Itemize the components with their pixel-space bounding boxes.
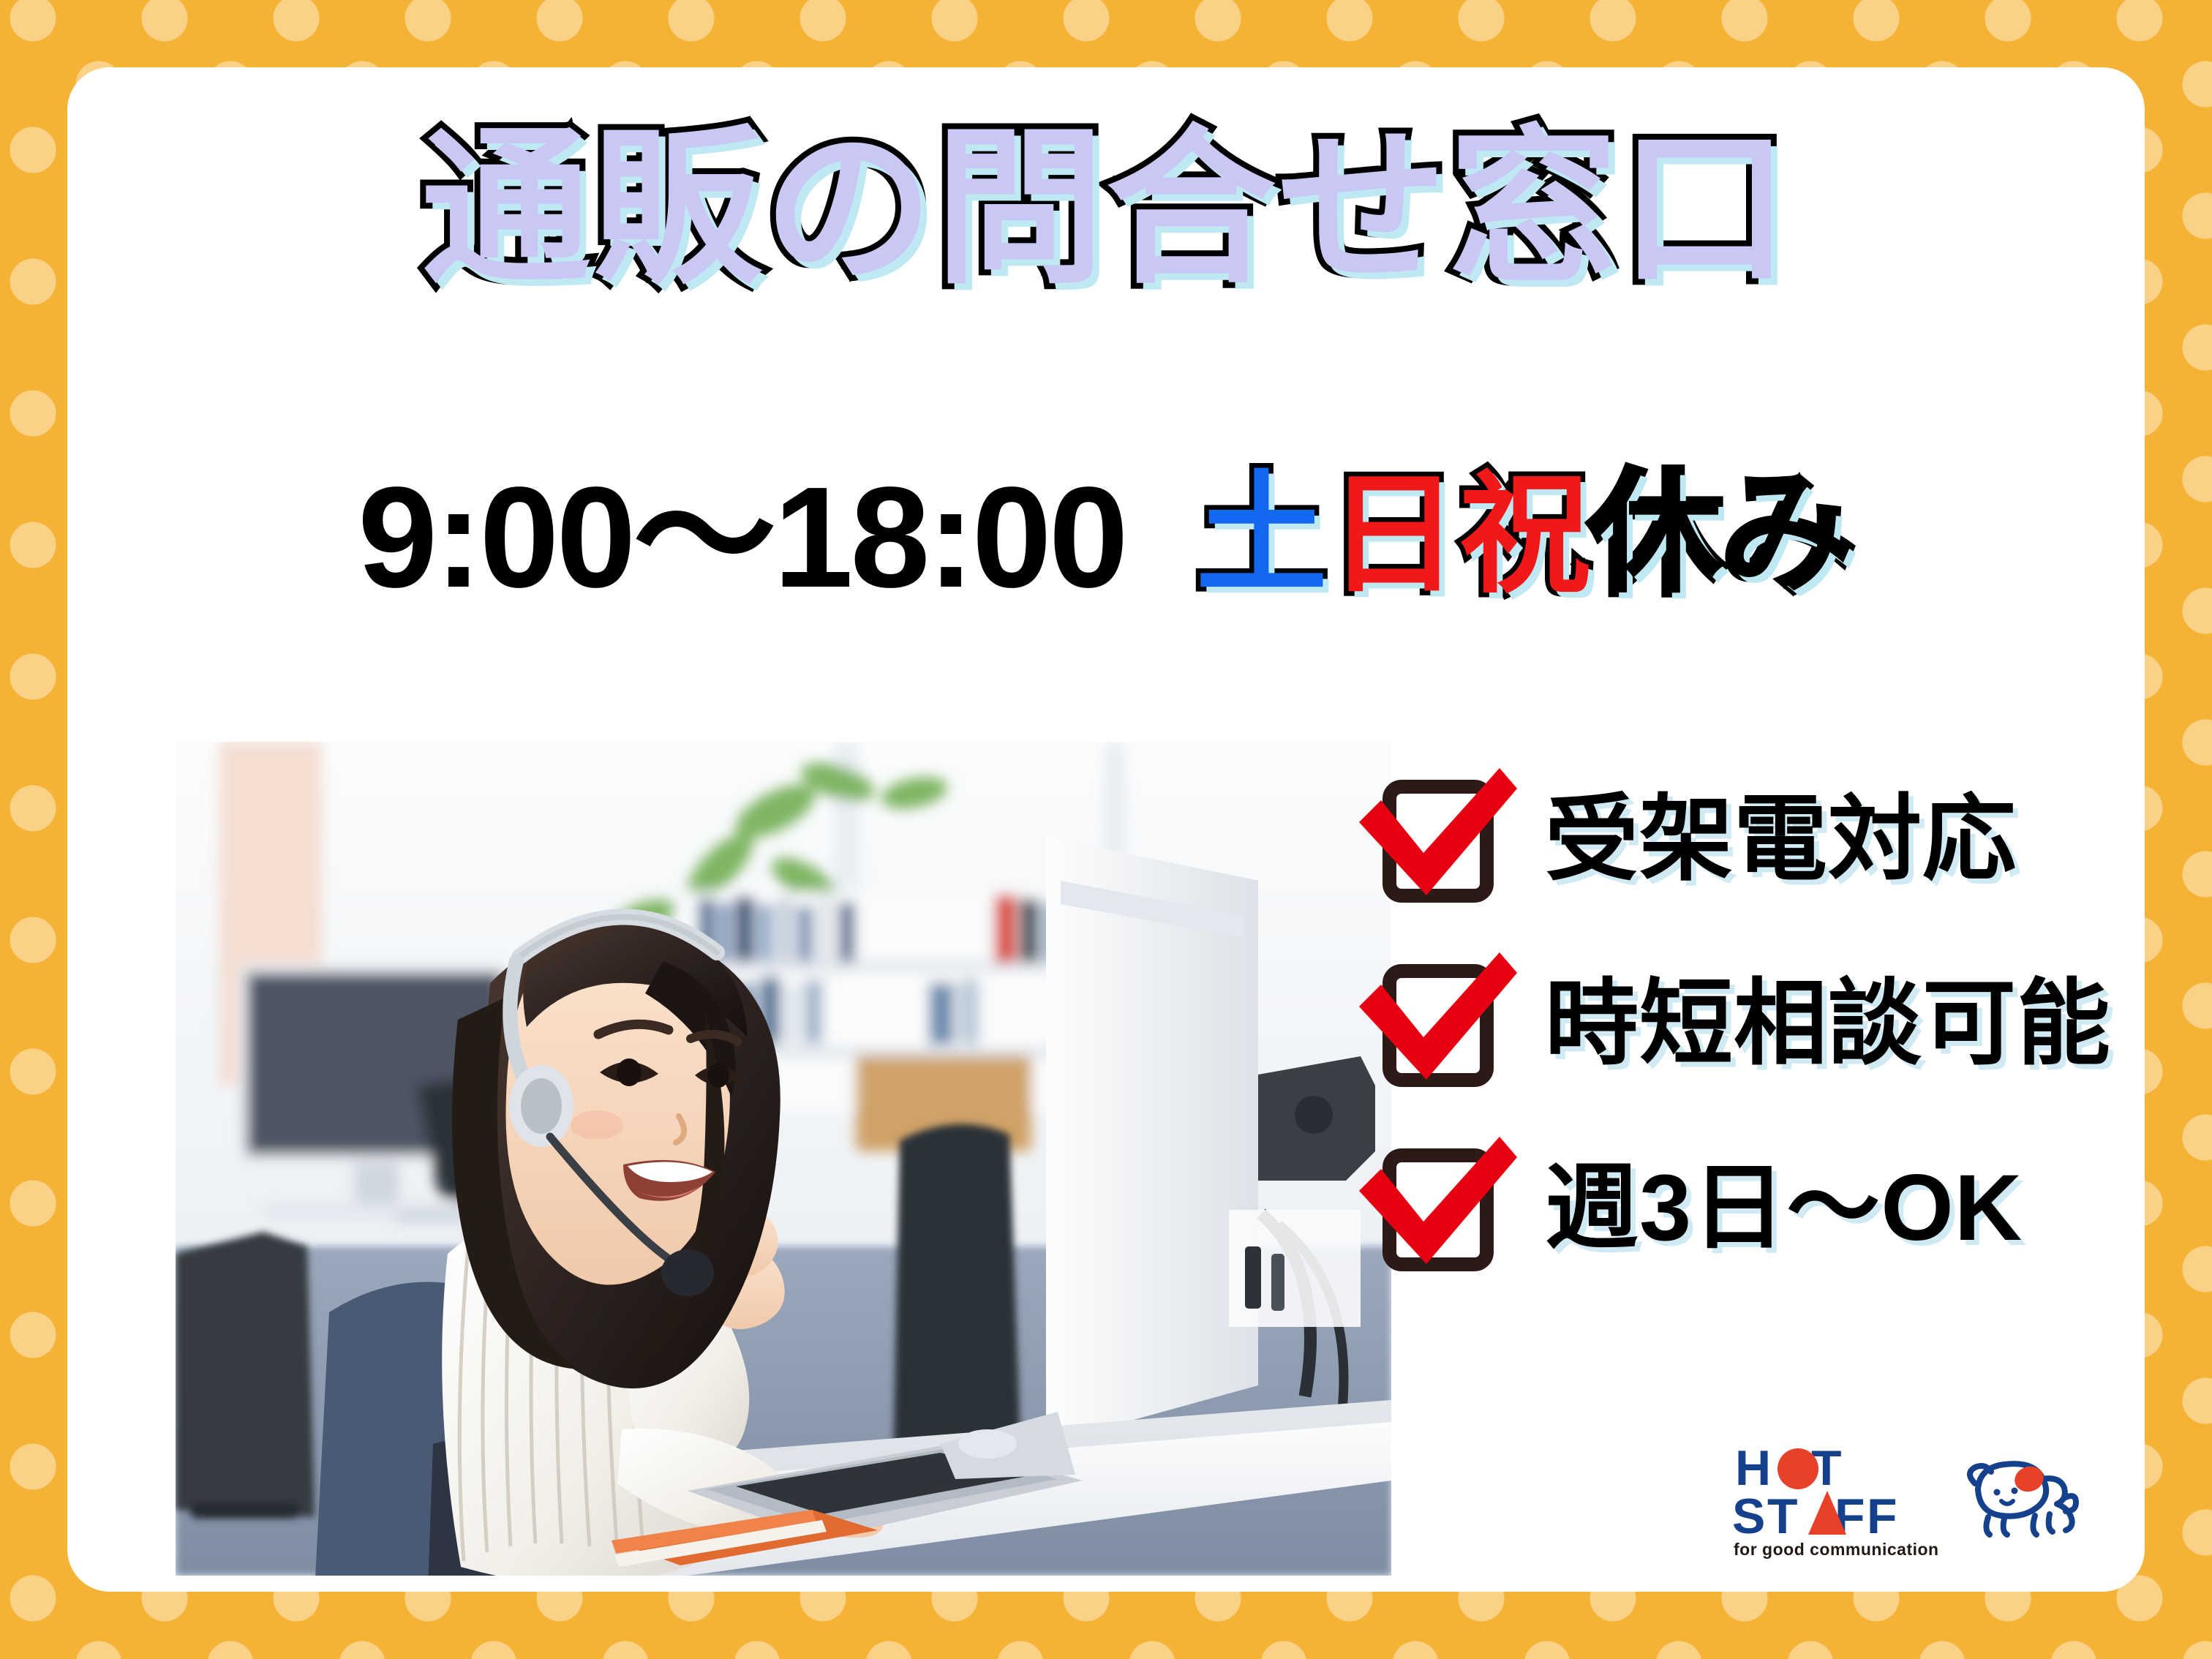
checkbox-checked-icon — [1377, 957, 1500, 1092]
operator-photo-illustration — [176, 742, 1391, 1576]
page-title: 通販の問合せ窓口 — [67, 124, 2145, 294]
business-hours: 9:00〜18:00 — [358, 466, 1126, 609]
checklist-label: 週3日〜OK — [1545, 1162, 2023, 1255]
company-logo: H T S T F F for good communication — [1732, 1440, 2080, 1557]
hot-staff-logo-svg: H T S T F F — [1732, 1440, 1937, 1557]
poster-background: 通販の問合せ窓口 9:00〜18:00 土日祝休み — [0, 0, 2212, 1659]
logo-tagline: for good communication — [1734, 1540, 1939, 1560]
check-mark-icon — [1356, 767, 1517, 913]
svg-text:H: H — [1735, 1440, 1772, 1496]
checklist-label: 受架電対応 — [1545, 793, 2017, 887]
checklist-item-1: 時短相談可能 — [1377, 932, 2145, 1116]
checkbox-checked-icon — [1377, 1141, 1500, 1276]
svg-text:F: F — [1867, 1489, 1899, 1544]
hours-and-holiday-row: 9:00〜18:00 土日祝休み — [67, 466, 2145, 609]
white-card: 通販の問合せ窓口 9:00〜18:00 土日祝休み — [67, 67, 2145, 1592]
holiday-public: 祝 — [1459, 462, 1591, 609]
svg-text:S: S — [1732, 1489, 1767, 1544]
svg-text:F: F — [1835, 1489, 1867, 1544]
check-mark-icon — [1356, 951, 1517, 1097]
dog-mascot-icon — [1956, 1454, 2080, 1542]
checklist-item-2: 週3日〜OK — [1377, 1116, 2145, 1301]
svg-text:T: T — [1767, 1489, 1799, 1544]
check-mark-icon — [1356, 1135, 1517, 1282]
checklist-item-0: 受架電対応 — [1377, 748, 2145, 932]
holiday-rest: 休み — [1591, 462, 1854, 609]
hot-staff-wordmark: H T S T F F for good communication — [1732, 1440, 1937, 1557]
operator-photo — [176, 742, 1391, 1576]
feature-checklist: 受架電対応 時短相談可能 週3日〜OK — [1377, 748, 2145, 1301]
checklist-label: 時短相談可能 — [1545, 977, 2111, 1071]
holiday-label: 土日祝休み — [1196, 466, 1854, 604]
holiday-saturday: 土 — [1196, 462, 1328, 609]
checkbox-checked-icon — [1377, 772, 1500, 908]
holiday-sunday: 日 — [1328, 462, 1459, 609]
